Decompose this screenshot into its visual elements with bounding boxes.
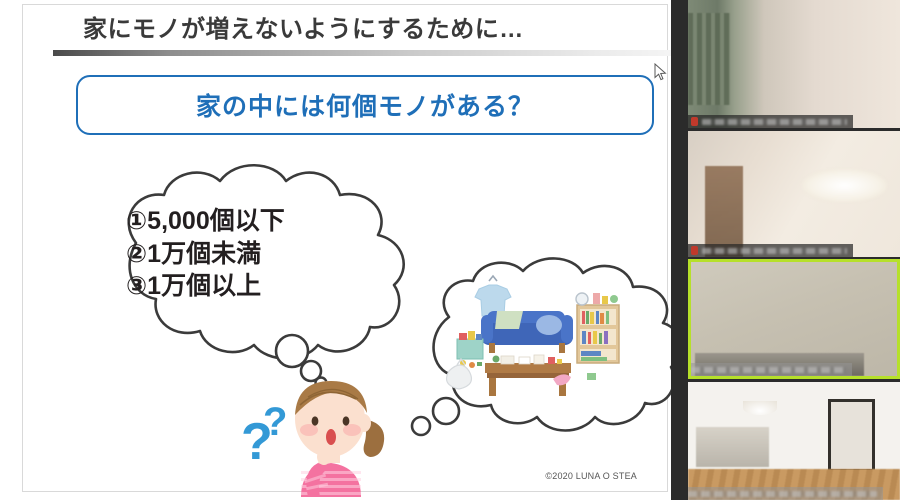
slide-frame: 家にモノが増えないようにするために… 家の中には何個モノがある？ ①5,000個… [22,4,668,492]
video-tile-4[interactable] [688,382,900,500]
thinking-girl [238,373,413,497]
participant-1-name-blurred [702,119,847,125]
thought-bubble-options: ①5,000個以下 ②1万個未満 ③1万個以上 [78,155,438,400]
thought-bubble-cluttered-room [401,253,671,438]
answer-option-3: ③1万個以上 [126,270,406,303]
copyright-notice: ©2020 LUNA O STEA [545,471,637,481]
video-tile-3-active-speaker[interactable] [688,259,900,379]
video-tile-2[interactable] [688,131,900,257]
shared-slide-area: 家にモノが増えないようにするために… 家の中には何個モノがある？ ①5,000個… [0,0,671,500]
answer-options-list: ①5,000個以下 ②1万個未満 ③1万個以上 [126,205,406,303]
scattered-item-2 [587,373,596,380]
participant-video-panel [671,0,900,500]
mouse-cursor [654,63,668,81]
title-divider-rule [53,50,671,56]
participant-2-name-blurred [702,248,847,254]
question-text: 家の中には何個モノがある？ [196,87,534,123]
mic-muted-icon [691,246,698,255]
girl-character-icon [238,373,413,497]
slide-title: 家にモノが増えないようにするために… [83,13,643,47]
question-callout-box: 家の中には何個モノがある？ [76,75,654,135]
answer-option-2: ②1万個未満 [126,238,406,271]
video-tile-1[interactable] [688,0,900,128]
participant-2-name-label [688,244,853,257]
participant-4-name-label [688,487,883,500]
answer-option-1: ①5,000個以下 [126,205,406,238]
mic-muted-icon [691,117,698,126]
room-thought-bubble-icon [401,253,671,438]
participant-1-name-label [688,115,853,128]
participant-4-name-blurred [688,491,877,497]
participant-3-name-label [691,363,852,376]
screen-share-meeting-view: 家にモノが増えないようにするために… 家の中には何個モノがある？ ①5,000個… [0,0,900,500]
participant-3-name-blurred [691,367,846,373]
